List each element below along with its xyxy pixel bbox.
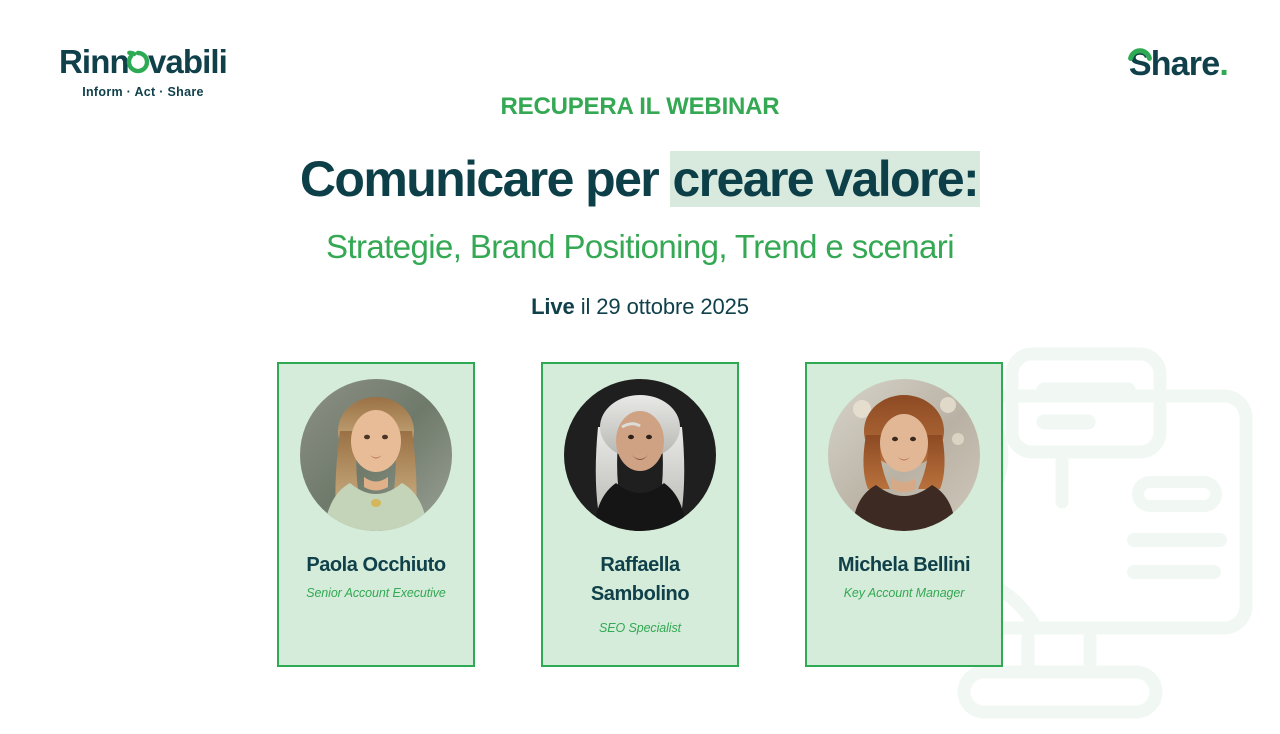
speaker-name: Michela Bellini: [816, 551, 992, 580]
portrait-michela-bellini: [828, 379, 980, 531]
portrait-raffaella-sambolino: [564, 379, 716, 531]
speaker-card[interactable]: Raffaella Sambolino SEO Specialist: [541, 362, 739, 667]
recycle-ring-icon: [127, 50, 150, 73]
logo-share-rest: hare: [1151, 45, 1220, 83]
live-badge-label: Live: [531, 294, 575, 319]
arc-over-s-icon: [1128, 45, 1152, 61]
avatar: [564, 379, 716, 531]
logo-tagline: Inform · Act · Share: [59, 85, 227, 99]
logo-share: S hare.: [1129, 47, 1228, 81]
avatar: [828, 379, 980, 531]
speaker-card[interactable]: Michela Bellini Key Account Manager: [805, 362, 1003, 667]
speaker-role: Senior Account Executive: [283, 585, 469, 603]
speakers-row: Paola Occhiuto Senior Account Executive: [0, 362, 1280, 667]
logo-text-pre: Rinn: [59, 43, 129, 80]
logo-share-s: S: [1129, 47, 1151, 81]
speaker-name: Paola Occhiuto: [288, 551, 464, 580]
page-subtitle: Strategie, Brand Positioning, Trend e sc…: [0, 228, 1280, 266]
page-title: Comunicare per creare valore:: [0, 152, 1280, 206]
logo-share-dot: .: [1219, 45, 1228, 83]
speaker-role: SEO Specialist: [547, 620, 733, 638]
live-date-line: Live il 29 ottobre 2025: [0, 294, 1280, 320]
title-highlighted: creare valore:: [670, 151, 980, 207]
speaker-role: Key Account Manager: [811, 585, 997, 603]
portrait-paola-occhiuto: [300, 379, 452, 531]
logo-text-post: vabili: [148, 43, 227, 80]
live-date-value: il 29 ottobre 2025: [575, 294, 749, 319]
title-plain: Comunicare per: [300, 151, 671, 207]
avatar: [300, 379, 452, 531]
speaker-name: Raffaella Sambolino: [552, 551, 728, 609]
logo-rinnovabili: Rinno vabili Inform · Act · Share: [59, 45, 227, 99]
speaker-card[interactable]: Paola Occhiuto Senior Account Executive: [277, 362, 475, 667]
logo-rinnovabili-wordmark: Rinno vabili: [59, 45, 227, 78]
logo-ring-slot: o: [129, 45, 148, 78]
